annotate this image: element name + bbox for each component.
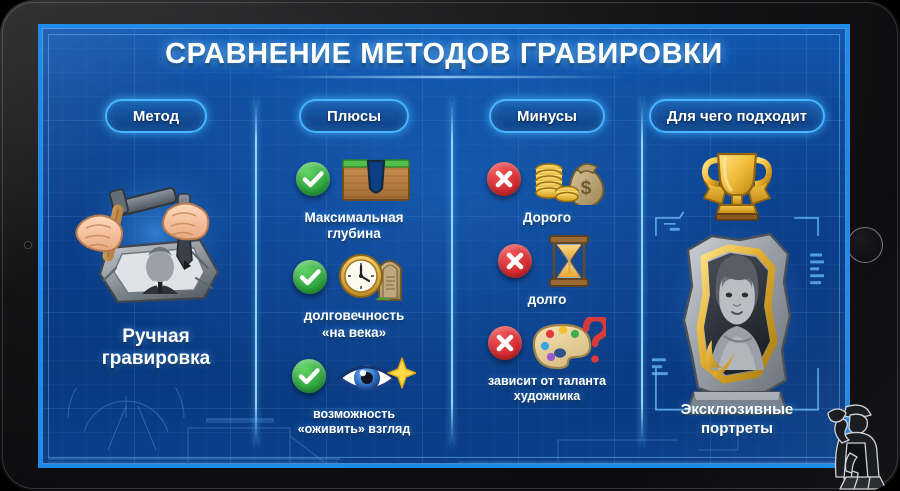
- cross-icon: [487, 162, 521, 196]
- method-label-line2: гравировка: [102, 348, 210, 370]
- comparison-table: Ручная гравировка: [56, 140, 832, 456]
- column-header-pill-suited[interactable]: Для чего подходит: [649, 99, 825, 133]
- list-item[interactable]: зависит от таланта художника: [452, 314, 642, 404]
- coins-money-bag-icon: $: [531, 153, 607, 205]
- list-item-label-line1: Дорого: [523, 210, 571, 226]
- check-icon: [296, 162, 330, 196]
- list-item[interactable]: $: [452, 150, 642, 226]
- cross-icon: [498, 244, 532, 278]
- column-suited: Эксклюзивные портреты: [642, 140, 832, 456]
- column-header-pill-pros[interactable]: Плюсы: [299, 99, 409, 133]
- cross-icon: [488, 326, 522, 360]
- pros-list: Максимальная глубина: [256, 140, 452, 437]
- suited-label-line1: Эксклюзивные: [642, 401, 832, 419]
- list-item-label-line2: «на века»: [304, 325, 405, 341]
- header-cell-method: Метод: [56, 98, 256, 134]
- check-icon: [292, 359, 326, 393]
- list-item-label: зависит от таланта художника: [488, 374, 606, 404]
- list-item-label-line2: «оживить» взгляд: [298, 422, 411, 437]
- tablet-screen: СРАВНЕНИЕ МЕТОДОВ ГРАВИРОВКИ Метод Плюсы…: [38, 24, 850, 468]
- list-item[interactable]: долго: [452, 232, 642, 308]
- list-item-label-line1: долго: [528, 292, 567, 308]
- column-pros: Максимальная глубина: [256, 140, 452, 456]
- header-cell-cons: Минусы: [452, 98, 642, 134]
- hourglass-icon: [542, 233, 596, 289]
- list-item-label: долговечность «на века»: [304, 308, 405, 340]
- home-button[interactable]: [847, 227, 883, 263]
- method-label: Ручная гравировка: [102, 326, 210, 371]
- header-cell-pros: Плюсы: [256, 98, 452, 134]
- title-underline: [264, 76, 624, 78]
- list-item[interactable]: долговечность «на века»: [256, 248, 452, 340]
- cons-list: $: [452, 140, 642, 404]
- list-item-label: долго: [528, 292, 567, 308]
- list-item-label: Дорого: [523, 210, 571, 226]
- stone-monument-portrait-icon: [666, 224, 808, 430]
- column-header-pill-method[interactable]: Метод: [105, 99, 207, 133]
- suited-label: Эксклюзивные портреты: [642, 401, 832, 438]
- clock-and-stone-tablet-icon: [337, 250, 415, 304]
- list-item-label-line1: долговечность: [304, 308, 405, 324]
- method-label-line1: Ручная: [102, 326, 210, 348]
- column-header-pill-cons[interactable]: Минусы: [489, 99, 605, 133]
- trophy-icon: [692, 146, 782, 222]
- page-title-block: СРАВНЕНИЕ МЕТОДОВ ГРАВИРОВКИ: [38, 38, 850, 78]
- list-item-label-line2: глубина: [304, 226, 403, 242]
- column-cons: $: [452, 140, 642, 456]
- suited-label-line2: портреты: [642, 420, 832, 438]
- column-headers: Метод Плюсы Минусы Для чего подходит: [56, 98, 832, 134]
- list-item[interactable]: Максимальная глубина: [256, 150, 452, 242]
- list-item-label-line1: возможность: [298, 407, 411, 422]
- stonemason-silhouette-logo: [806, 399, 892, 491]
- list-item-label: Максимальная глубина: [304, 210, 403, 242]
- list-item-label-line1: зависит от таланта: [488, 374, 606, 389]
- tablet-device: СРАВНЕНИЕ МЕТОДОВ ГРАВИРОВКИ Метод Плюсы…: [0, 0, 900, 491]
- hand-hammer-chisel-stone-portrait-icon: [72, 156, 240, 316]
- svg-text:$: $: [581, 178, 592, 199]
- list-item-label-line2: художника: [488, 389, 606, 404]
- header-cell-suited: Для чего подходит: [642, 98, 832, 134]
- page-title: СРАВНЕНИЕ МЕТОДОВ ГРАВИРОВКИ: [38, 38, 850, 71]
- sparkling-eye-icon: [336, 352, 416, 400]
- column-method: Ручная гравировка: [56, 140, 256, 456]
- check-icon: [293, 260, 327, 294]
- list-item-label-line1: Максимальная: [304, 210, 403, 226]
- list-item[interactable]: возможность «оживить» взгляд: [256, 347, 452, 437]
- list-item-label: возможность «оживить» взгляд: [298, 407, 411, 437]
- deep-groove-cross-section-icon: [340, 154, 412, 204]
- artist-palette-question-icon: [532, 317, 606, 369]
- camera-dot-icon: [25, 242, 31, 248]
